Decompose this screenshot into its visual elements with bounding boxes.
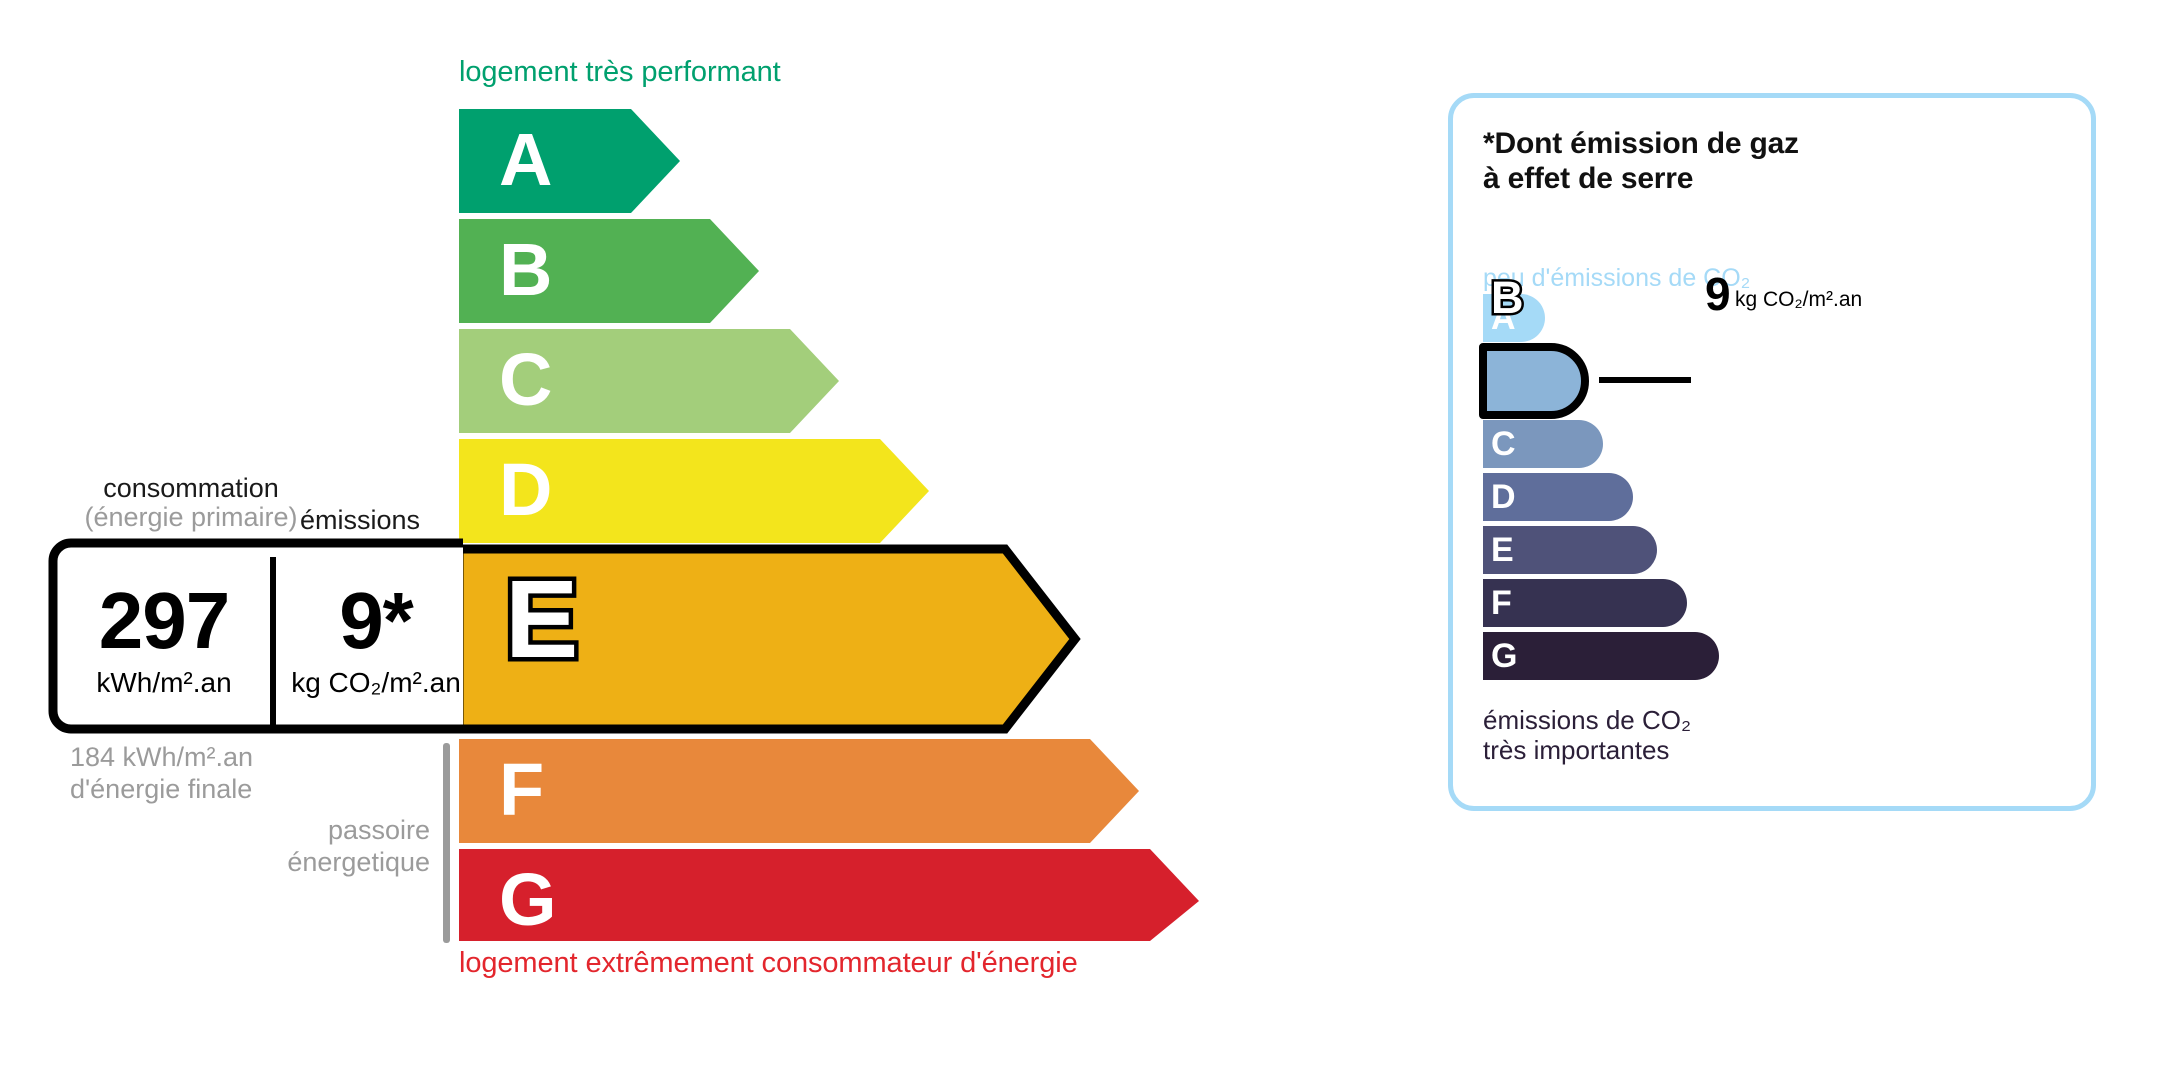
dpe-diagram: logement très performant A B C D E F G c… — [0, 0, 2170, 1079]
co2-callout-unit: kg CO₂/m².an — [1735, 288, 1862, 312]
passoire-bracket — [443, 743, 450, 943]
co2-bar-letter-B-selected: B — [1491, 275, 1524, 320]
energy-bar-letter-C: C — [499, 343, 552, 417]
co2-bar-letter-G: G — [1491, 639, 1517, 673]
co2-bar-letter-F: F — [1491, 586, 1512, 620]
co2-bottom-caption: émissions de CO₂ très importantes — [1483, 705, 1691, 765]
energy-bar-letter-E-selected: E — [505, 565, 578, 675]
passoire-line-2: énergetique — [210, 847, 430, 879]
consumption-value: 297 — [58, 583, 270, 659]
co2-callout-value: 9 — [1705, 271, 1731, 317]
energy-bar-letter-B: B — [499, 233, 552, 307]
consumption-unit: kWh/m².an — [58, 665, 270, 701]
consumption-label-group: consommation (énergie primaire) — [66, 474, 316, 532]
energy-bar-letter-D: D — [499, 453, 552, 527]
energy-bar-F — [459, 739, 1139, 843]
passoire-line-1: passoire — [210, 815, 430, 847]
passoire-energetique-note: passoire énergetique — [210, 815, 430, 878]
energy-bar-letter-A: A — [499, 123, 552, 197]
co2-bar-letter-D: D — [1491, 480, 1516, 514]
final-energy-label: d'énergie finale — [70, 774, 253, 806]
emissions-label: émissions — [300, 505, 420, 536]
emission-value: 9* — [278, 583, 474, 659]
consumption-label: consommation — [66, 474, 316, 503]
energy-top-caption: logement très performant — [459, 56, 781, 89]
co2-callout-leader-line — [1599, 377, 1691, 383]
final-energy-value: 184 kWh/m².an — [70, 742, 253, 774]
energy-bottom-caption: logement extrêmement consommateur d'éner… — [459, 947, 1078, 980]
co2-bar-F — [1483, 579, 1687, 627]
co2-bar-letter-E: E — [1491, 533, 1514, 567]
consumption-value-group: 297 kWh/m².an — [58, 583, 270, 701]
energy-bar-letter-G: G — [499, 863, 557, 937]
emission-unit: kg CO₂/m².an — [278, 665, 474, 701]
co2-bottom-caption-line-1: émissions de CO₂ — [1483, 705, 1691, 735]
energy-bar-A — [459, 109, 680, 213]
value-box-divider — [270, 557, 276, 725]
energy-bar-G — [459, 849, 1199, 941]
emission-value-group: 9* kg CO₂/m².an — [278, 583, 474, 701]
co2-bar-B-selected — [1483, 347, 1585, 415]
energy-bars-svg — [0, 0, 1300, 1079]
co2-bar-G — [1483, 632, 1719, 680]
energy-performance-chart: logement très performant A B C D E F G c… — [0, 0, 1300, 1079]
final-energy-note: 184 kWh/m².an d'énergie finale — [70, 742, 253, 805]
co2-bar-letter-C: C — [1491, 427, 1516, 461]
energy-bar-letter-F: F — [499, 753, 544, 827]
co2-bottom-caption-line-2: très importantes — [1483, 735, 1691, 765]
primary-energy-sublabel: (énergie primaire) — [66, 503, 316, 532]
co2-emissions-panel: *Dont émission de gaz à effet de serre p… — [1448, 93, 2096, 811]
